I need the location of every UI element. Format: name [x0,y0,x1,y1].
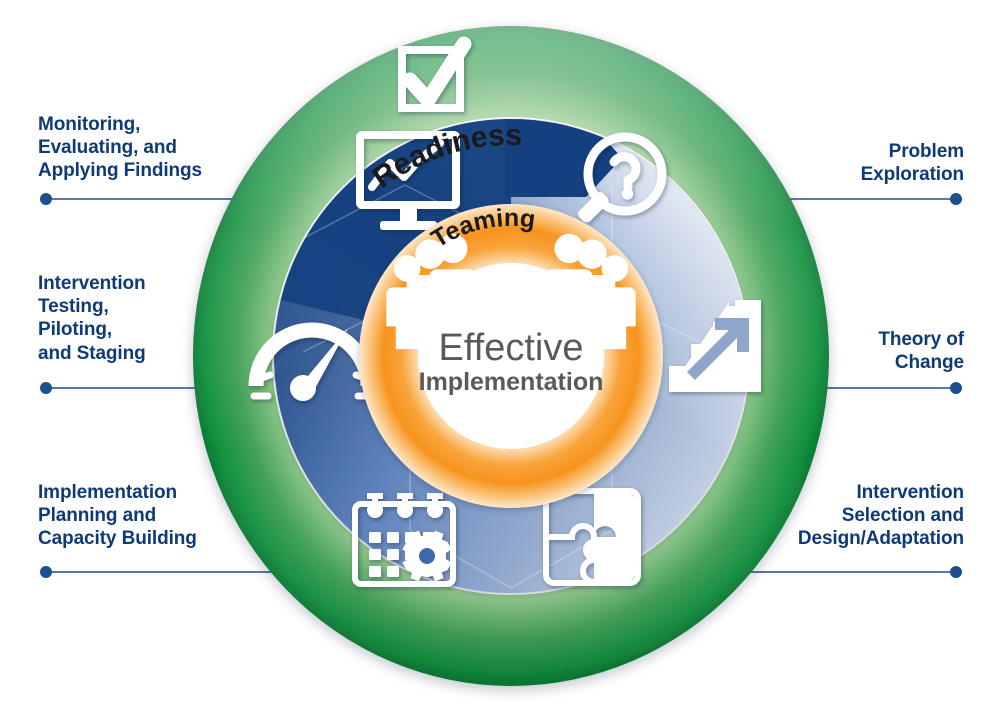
label-line-3: Capacity Building [38,527,268,550]
label-line-1: Monitoring, [38,113,268,136]
diagram-canvas: Readiness Teaming Effective Implementati… [0,0,1002,706]
label-line-2: Evaluating, and [38,136,268,159]
center-label: Effective Implementation [419,327,604,396]
stage-label-intervention-selection-design-adaptation[interactable]: Intervention Selection and Design/Adapta… [724,481,964,551]
center-line1: Effective [438,327,583,369]
label-line-3: Piloting, [38,318,238,341]
label-line-2: Testing, [38,295,238,318]
stage-label-implementation-planning-capacity-building[interactable]: Implementation Planning and Capacity Bui… [38,481,268,551]
label-line-3: Applying Findings [38,159,268,182]
label-line-4: and Staging [38,342,238,365]
label-line-1: Problem [734,140,964,163]
stage-label-theory-of-change[interactable]: Theory of Change [734,328,964,374]
label-line-1: Intervention [724,481,964,504]
label-line-2: Selection and [724,504,964,527]
stage-label-problem-exploration[interactable]: Problem Exploration [734,140,964,186]
label-line-2: Planning and [38,504,268,527]
label-line-3: Design/Adaptation [724,527,964,550]
stage-label-monitoring-evaluating-applying-findings[interactable]: Monitoring, Evaluating, and Applying Fin… [38,113,268,183]
label-line-2: Change [734,351,964,374]
label-line-1: Implementation [38,481,268,504]
center-line2: Implementation [419,368,604,396]
label-line-1: Theory of [734,328,964,351]
stage-label-intervention-testing-piloting-staging[interactable]: Intervention Testing, Piloting, and Stag… [38,272,238,365]
label-line-1: Intervention [38,272,238,295]
label-line-2: Exploration [734,163,964,186]
